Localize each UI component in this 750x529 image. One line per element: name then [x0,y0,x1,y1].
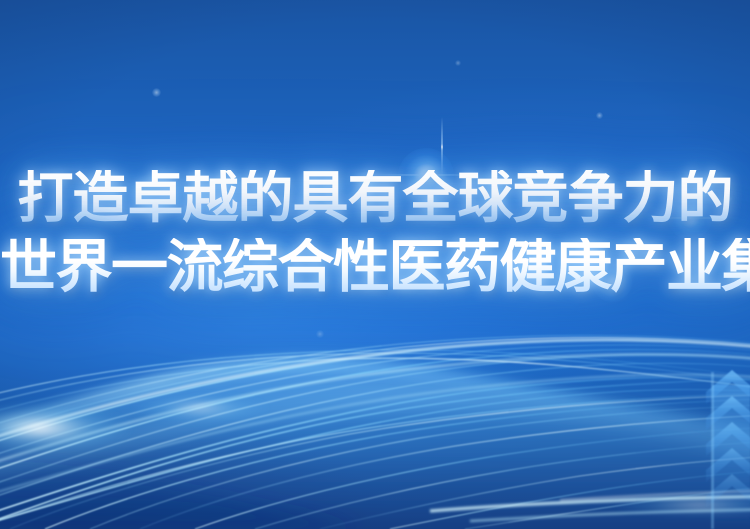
slogan-banner: 打造卓越的具有全球竞争力的 世界一流综合性医药健康产业集团 [0,0,750,529]
slogan-line-1: 打造卓越的具有全球竞争力的 [0,170,750,226]
slogan-line-2: 世界一流综合性医药健康产业集团 [0,238,750,295]
chevron-edge-highlight [711,372,714,529]
slogan-title-block: 打造卓越的具有全球竞争力的 世界一流综合性医药健康产业集团 [0,170,750,295]
